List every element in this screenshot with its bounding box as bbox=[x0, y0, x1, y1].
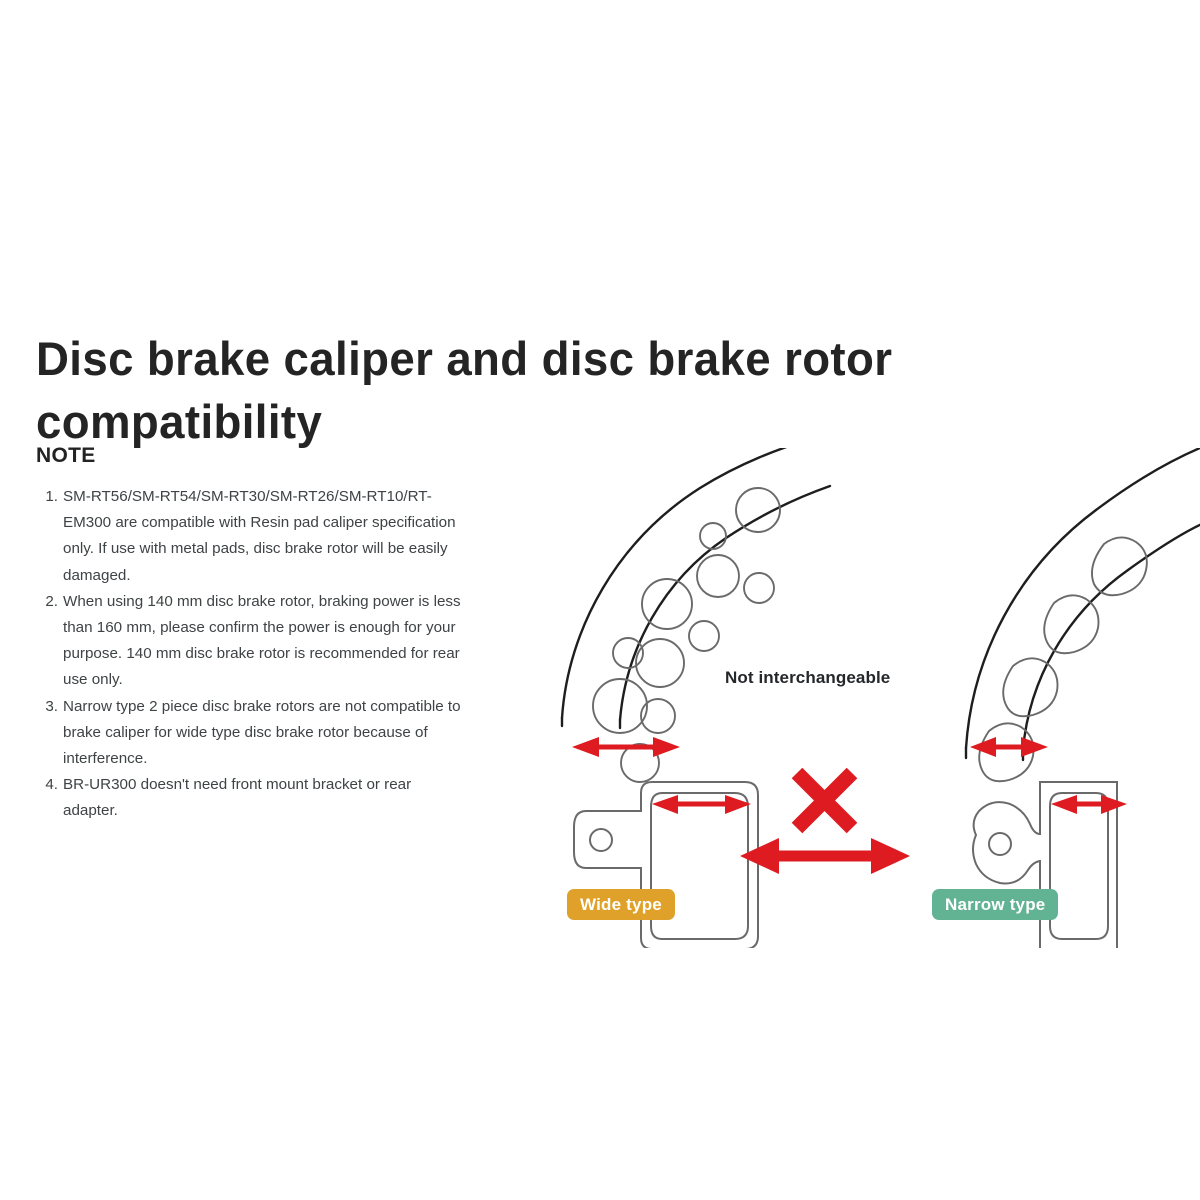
wide-rotor-holes bbox=[593, 488, 780, 782]
list-item: 4. BR-UR300 doesn't need front mount bra… bbox=[36, 772, 466, 824]
page-title: Disc brake caliper and disc brake rotor … bbox=[36, 328, 1064, 452]
note-list: 1. SM-RT56/SM-RT54/SM-RT30/SM-RT26/SM-RT… bbox=[36, 484, 466, 825]
list-item: 3. Narrow type 2 piece disc brake rotors… bbox=[36, 694, 466, 773]
note-heading: NOTE bbox=[36, 444, 96, 468]
narrow-brake-pad-illustration bbox=[973, 782, 1117, 948]
list-item-text: BR-UR300 doesn't need front mount bracke… bbox=[63, 776, 411, 819]
list-item-text: SM-RT56/SM-RT54/SM-RT30/SM-RT26/SM-RT10/… bbox=[63, 488, 456, 584]
compatibility-diagram bbox=[500, 448, 1200, 948]
document-page: Disc brake caliper and disc brake rotor … bbox=[0, 0, 1200, 1200]
narrow-pad-width-arrow bbox=[1051, 795, 1127, 814]
list-item-number: 4. bbox=[36, 772, 58, 798]
narrow-rotor-width-arrow bbox=[970, 737, 1048, 757]
wide-rotor-illustration bbox=[562, 448, 830, 782]
not-interchangeable-label: Not interchangeable bbox=[725, 668, 890, 688]
not-interchangeable-cross-icon bbox=[797, 773, 852, 828]
status-badge-narrow-type: Narrow type bbox=[932, 889, 1058, 920]
wide-pad-width-arrow bbox=[652, 795, 751, 814]
list-item: 2. When using 140 mm disc brake rotor, b… bbox=[36, 589, 466, 694]
list-item: 1. SM-RT56/SM-RT54/SM-RT30/SM-RT26/SM-RT… bbox=[36, 484, 466, 589]
bidirectional-arrow-icon bbox=[740, 838, 910, 874]
list-item-number: 2. bbox=[36, 589, 58, 615]
narrow-rotor-illustration bbox=[966, 448, 1200, 781]
list-item-number: 1. bbox=[36, 484, 58, 510]
list-item-number: 3. bbox=[36, 694, 58, 720]
status-badge-wide-type: Wide type bbox=[567, 889, 675, 920]
wide-rotor-width-arrow bbox=[572, 737, 680, 757]
list-item-text: Narrow type 2 piece disc brake rotors ar… bbox=[63, 698, 461, 767]
list-item-text: When using 140 mm disc brake rotor, brak… bbox=[63, 593, 461, 689]
